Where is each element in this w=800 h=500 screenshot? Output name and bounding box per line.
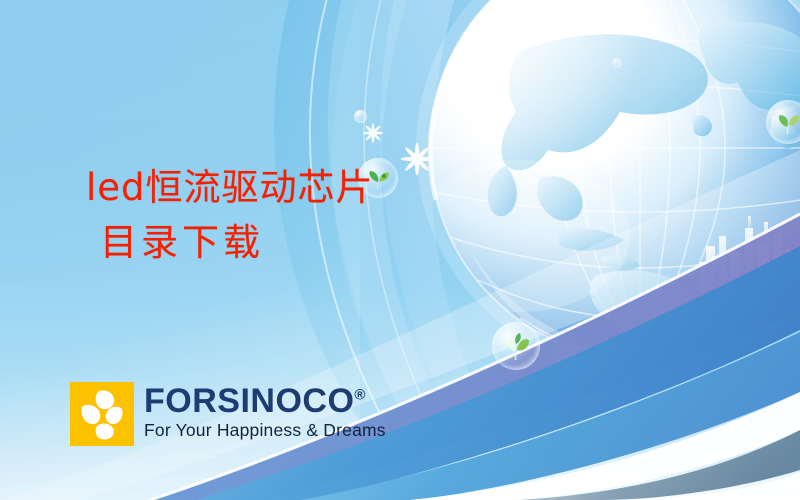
four-petal-pinwheel-icon xyxy=(70,382,134,446)
banner-content: led恒流驱动芯片 目录下载 xyxy=(0,0,800,500)
promo-banner: led恒流驱动芯片 目录下载 xyxy=(0,0,800,500)
company-logo[interactable]: FORSINOCO® For Your Happiness & Dreams xyxy=(70,382,386,446)
logo-tagline: For Your Happiness & Dreams xyxy=(144,420,386,441)
headline-text: led恒流驱动芯片 目录下载 xyxy=(86,164,506,267)
logo-wordmark: FORSINOCO® xyxy=(144,384,386,419)
logo-wordmark-text: FORSINOCO xyxy=(144,382,354,420)
headline-line-2: 目录下载 xyxy=(100,219,506,266)
registered-trademark-icon: ® xyxy=(354,387,365,404)
logo-text-block: FORSINOCO® For Your Happiness & Dreams xyxy=(144,382,386,441)
headline-line-1: led恒流驱动芯片 xyxy=(86,164,506,211)
